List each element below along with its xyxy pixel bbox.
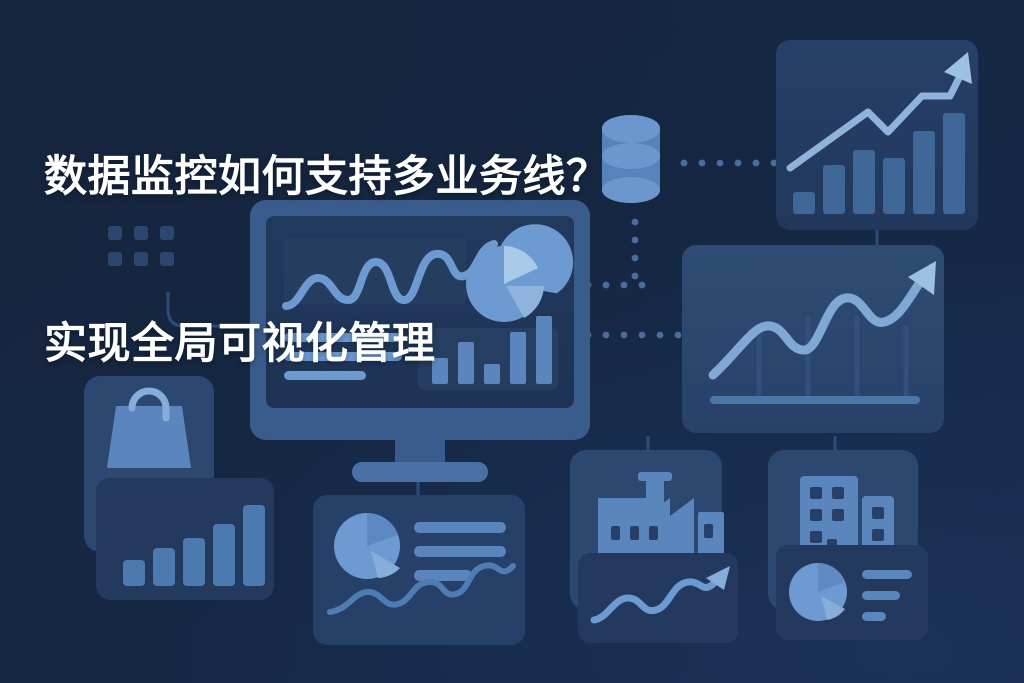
page-title-line-2: 实现全局可视化管理 [44, 317, 610, 373]
dots-db-down [632, 219, 639, 280]
growth-bar-card [776, 40, 978, 230]
page-title-line-1: 数据监控如何支持多业务线？ [44, 150, 610, 206]
dots-db-to-growth [681, 160, 778, 167]
retail-bar-card [96, 478, 274, 600]
report-pie-chart [334, 513, 400, 579]
illustration-banner: 数据监控如何支持多业务线？ 实现全局可视化管理 [0, 0, 1024, 683]
trend-chart-card [682, 245, 944, 433]
page-title: 数据监控如何支持多业务线？ 实现全局可视化管理 [44, 38, 610, 485]
office-report-card [776, 545, 928, 640]
report-card [313, 495, 525, 645]
database-cylinder-icon [602, 115, 660, 203]
factory-trend-card [578, 553, 738, 643]
office-report-pie [789, 563, 847, 621]
